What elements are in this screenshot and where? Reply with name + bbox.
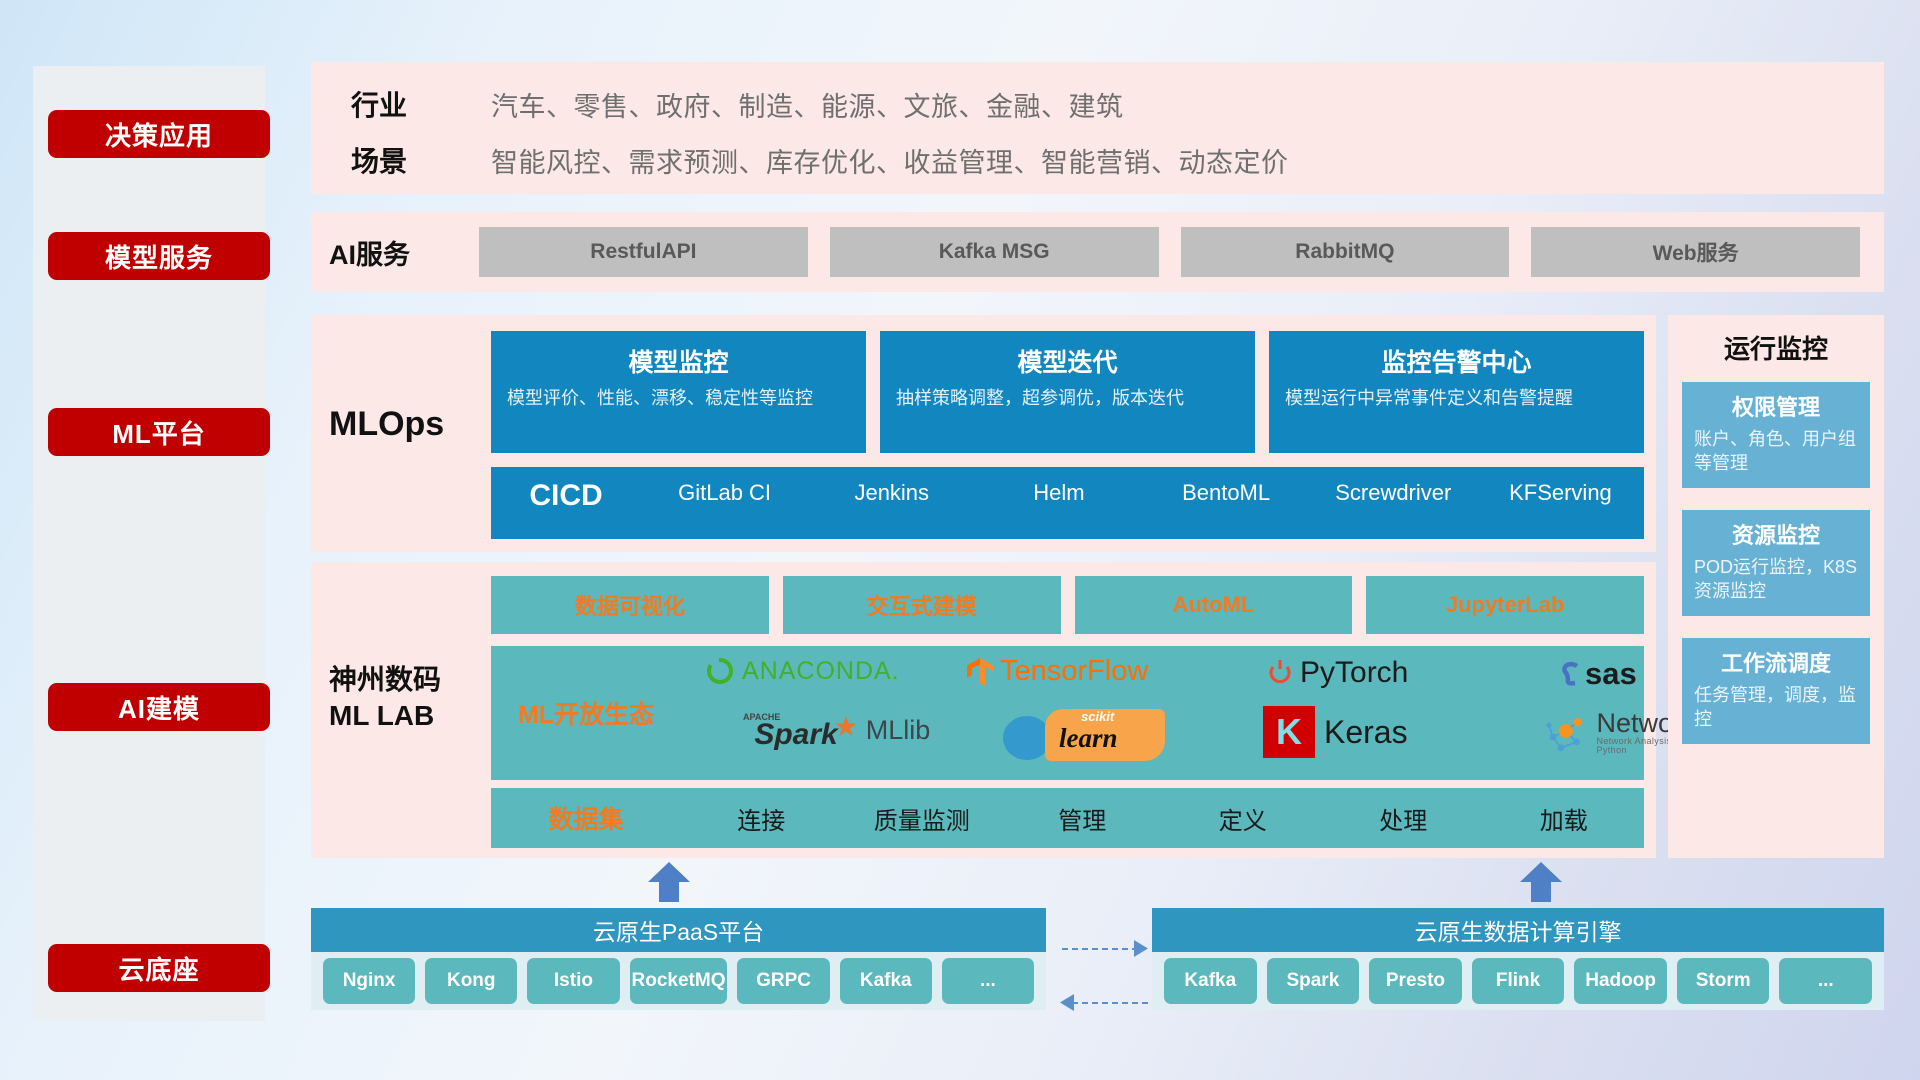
cicd-row: CICD GitLab CI Jenkins Helm BentoML Scre…	[491, 467, 1644, 539]
cicd-item-gitlab[interactable]: GitLab CI	[641, 479, 808, 507]
ml-ecosystem-label: ML开放生态	[491, 695, 681, 731]
ai-service-list: RestfulAPI Kafka MSG RabbitMQ Web服务	[479, 227, 1884, 277]
rail-label: 决策应用	[105, 116, 213, 153]
ml-lab-label-line2: ML LAB	[329, 698, 441, 734]
chip-more-right[interactable]: ...	[1779, 958, 1872, 1004]
scikit-label: scikit	[1081, 709, 1114, 724]
architecture-diagram: 决策应用 模型服务 ML平台 AI建模 云底座 行业 汽车、零售、政府、制造、能…	[0, 0, 1920, 1080]
cicd-item-jenkins[interactable]: Jenkins	[808, 479, 975, 507]
chip-rocketmq[interactable]: RocketMQ	[630, 958, 728, 1004]
card-desc: 模型评价、性能、漂移、稳定性等监控	[507, 387, 850, 411]
card-desc: 账户、角色、用户组等管理	[1694, 428, 1858, 476]
scenario-row: 场景 智能风控、需求预测、库存优化、收益管理、智能营销、动态定价	[351, 140, 1289, 180]
dataset-item-manage[interactable]: 管理	[1002, 801, 1163, 836]
card-title: 模型监控	[507, 343, 850, 379]
learn-label: learn	[1059, 723, 1118, 754]
chip-grpc[interactable]: GRPC	[737, 958, 829, 1004]
rail-item-model-service[interactable]: 模型服务	[48, 232, 270, 280]
spark-star-icon	[834, 715, 858, 739]
chip-storm[interactable]: Storm	[1677, 958, 1770, 1004]
dataset-item-quality-monitor[interactable]: 质量监测	[842, 801, 1003, 836]
tool-interactive-modeling[interactable]: 交互式建模	[783, 576, 1061, 634]
mlops-card-model-monitor[interactable]: 模型监控 模型评价、性能、漂移、稳定性等监控	[491, 331, 866, 453]
card-desc: 任务管理，调度，监控	[1694, 684, 1858, 732]
scenario-value: 智能风控、需求预测、库存优化、收益管理、智能营销、动态定价	[491, 141, 1289, 180]
anaconda-logo: ANACONDA.	[705, 656, 900, 686]
rail-label: 云底座	[118, 950, 199, 987]
industry-value: 汽车、零售、政府、制造、能源、文旅、金融、建筑	[491, 85, 1124, 124]
card-title: 工作流调度	[1694, 646, 1858, 678]
chip-presto[interactable]: Presto	[1369, 958, 1462, 1004]
monitor-card-workflow[interactable]: 工作流调度 任务管理，调度，监控	[1682, 638, 1870, 744]
mlops-label: MLOps	[329, 405, 444, 444]
spark-mllib-logo: APACHE Spark MLlib	[743, 709, 930, 752]
card-title: 资源监控	[1694, 518, 1858, 550]
dataset-item-connect[interactable]: 连接	[681, 801, 842, 836]
chip-spark[interactable]: Spark	[1267, 958, 1360, 1004]
ml-lab-tool-list: 数据可视化 交互式建模 AutoML JupyterLab	[491, 576, 1644, 634]
run-monitor-panel: 运行监控 权限管理 账户、角色、用户组等管理 资源监控 POD运行监控，K8S资…	[1668, 315, 1884, 858]
chip-hadoop[interactable]: Hadoop	[1574, 958, 1667, 1004]
ai-service-label: AI服务	[311, 233, 479, 272]
connector-left-to-right	[1062, 948, 1138, 950]
rail-label: ML平台	[112, 414, 206, 451]
chip-flink[interactable]: Flink	[1472, 958, 1565, 1004]
service-restfulapi[interactable]: RestfulAPI	[479, 227, 808, 277]
card-title: 模型迭代	[896, 343, 1239, 379]
card-title: 监控告警中心	[1285, 343, 1628, 379]
dataset-row: 数据集 连接 质量监测 管理 定义 处理 加载	[491, 788, 1644, 848]
ai-service-panel: AI服务 RestfulAPI Kafka MSG RabbitMQ Web服务	[311, 212, 1884, 292]
chip-kafka[interactable]: Kafka	[840, 958, 932, 1004]
tensorflow-icon	[965, 656, 995, 688]
industry-key: 行业	[351, 84, 491, 124]
chip-more-left[interactable]: ...	[942, 958, 1034, 1004]
connector-arrow-left-icon	[1058, 994, 1074, 1011]
ml-lab-label-line1: 神州数码	[329, 662, 441, 698]
mlops-card-alert-center[interactable]: 监控告警中心 模型运行中异常事件定义和告警提醒	[1269, 331, 1644, 453]
sas-logo: sas	[1557, 656, 1637, 692]
cicd-item-screwdriver[interactable]: Screwdriver	[1310, 479, 1477, 507]
paas-title-bar: 云原生PaaS平台	[311, 908, 1046, 952]
tensorflow-label: TensorFlow	[1000, 655, 1148, 688]
cicd-label: CICD	[491, 479, 641, 513]
dataset-item-define[interactable]: 定义	[1163, 801, 1324, 836]
tensorflow-logo: TensorFlow	[965, 655, 1148, 688]
cicd-item-helm[interactable]: Helm	[975, 479, 1142, 507]
tool-jupyterlab[interactable]: JupyterLab	[1366, 576, 1644, 634]
chip-istio[interactable]: Istio	[527, 958, 619, 1004]
rail-label: 模型服务	[105, 238, 213, 275]
service-rabbitmq[interactable]: RabbitMQ	[1181, 227, 1510, 277]
sas-label: sas	[1585, 656, 1637, 692]
card-title: 权限管理	[1694, 390, 1858, 422]
anaconda-icon	[705, 656, 735, 686]
ml-ecosystem-logos: ANACONDA. TensorFlow PyTorch	[681, 646, 1644, 780]
monitor-card-resource[interactable]: 资源监控 POD运行监控，K8S资源监控	[1682, 510, 1870, 616]
connector-arrow-right-icon	[1134, 940, 1150, 957]
pytorch-label: PyTorch	[1300, 656, 1408, 690]
keras-icon: K	[1263, 706, 1315, 758]
keras-label: Keras	[1324, 714, 1408, 751]
chip-kafka-right[interactable]: Kafka	[1164, 958, 1257, 1004]
mlops-panel: MLOps 模型监控 模型评价、性能、漂移、稳定性等监控 模型迭代 抽样策略调整…	[311, 315, 1656, 552]
rail-item-cloud-base[interactable]: 云底座	[48, 944, 270, 992]
rail-item-decision-app[interactable]: 决策应用	[48, 110, 270, 158]
arrow-up-paas-icon	[646, 862, 692, 902]
paas-title: 云原生PaaS平台	[593, 913, 764, 947]
keras-logo: K Keras	[1263, 706, 1408, 758]
anaconda-label: ANACONDA.	[742, 657, 900, 686]
cicd-item-bentoml[interactable]: BentoML	[1143, 479, 1310, 507]
card-desc: POD运行监控，K8S资源监控	[1694, 556, 1858, 604]
dataset-item-load[interactable]: 加载	[1484, 801, 1645, 836]
industry-row: 行业 汽车、零售、政府、制造、能源、文旅、金融、建筑	[351, 84, 1124, 124]
mllib-label: MLlib	[866, 715, 931, 746]
pytorch-icon	[1267, 658, 1293, 688]
mlops-card-list: 模型监控 模型评价、性能、漂移、稳定性等监控 模型迭代 抽样策略调整，超参调优，…	[491, 331, 1644, 453]
ml-lab-panel: 神州数码 ML LAB 数据可视化 交互式建模 AutoML JupyterLa…	[311, 562, 1656, 858]
rail-item-ai-modeling[interactable]: AI建模	[48, 683, 270, 731]
ml-ecosystem-row: ML开放生态 ANACONDA. TensorFlow	[491, 646, 1644, 780]
tool-data-visualization[interactable]: 数据可视化	[491, 576, 769, 634]
industry-scenario-panel: 行业 汽车、零售、政府、制造、能源、文旅、金融、建筑 场景 智能风控、需求预测、…	[311, 62, 1884, 194]
mlops-card-model-iteration[interactable]: 模型迭代 抽样策略调整，超参调优，版本迭代	[880, 331, 1255, 453]
networkx-icon	[1545, 711, 1590, 755]
arrow-up-data-engine-icon	[1518, 862, 1564, 902]
dataset-label: 数据集	[491, 800, 681, 836]
data-engine-title: 云原生数据计算引擎	[1415, 913, 1622, 947]
monitor-card-permission[interactable]: 权限管理 账户、角色、用户组等管理	[1682, 382, 1870, 488]
chip-nginx[interactable]: Nginx	[323, 958, 415, 1004]
service-kafka-msg[interactable]: Kafka MSG	[830, 227, 1159, 277]
scikit-learn-logo: scikit learn	[1003, 706, 1178, 764]
rail-label: AI建模	[118, 689, 200, 726]
run-monitor-title: 运行监控	[1668, 329, 1884, 366]
sas-icon	[1557, 659, 1583, 689]
connector-right-to-left	[1072, 1002, 1148, 1004]
tool-automl[interactable]: AutoML	[1075, 576, 1353, 634]
cicd-item-kfserving[interactable]: KFServing	[1477, 479, 1644, 507]
data-engine-chip-row: Kafka Spark Presto Flink Hadoop Storm ..…	[1152, 952, 1884, 1010]
card-desc: 模型运行中异常事件定义和告警提醒	[1285, 387, 1628, 411]
layer-rail	[33, 66, 265, 1021]
chip-kong[interactable]: Kong	[425, 958, 517, 1004]
card-desc: 抽样策略调整，超参调优，版本迭代	[896, 387, 1239, 411]
scikit-blue-blob-icon	[1003, 716, 1051, 760]
rail-item-ml-platform[interactable]: ML平台	[48, 408, 270, 456]
ml-lab-label: 神州数码 ML LAB	[329, 662, 441, 735]
pytorch-logo: PyTorch	[1267, 656, 1408, 690]
service-web[interactable]: Web服务	[1531, 227, 1860, 277]
paas-chip-row: Nginx Kong Istio RocketMQ GRPC Kafka ...	[311, 952, 1046, 1010]
scenario-key: 场景	[351, 140, 491, 180]
spark-wordmark: Spark	[754, 718, 837, 752]
data-engine-title-bar: 云原生数据计算引擎	[1152, 908, 1884, 952]
dataset-item-process[interactable]: 处理	[1323, 801, 1484, 836]
